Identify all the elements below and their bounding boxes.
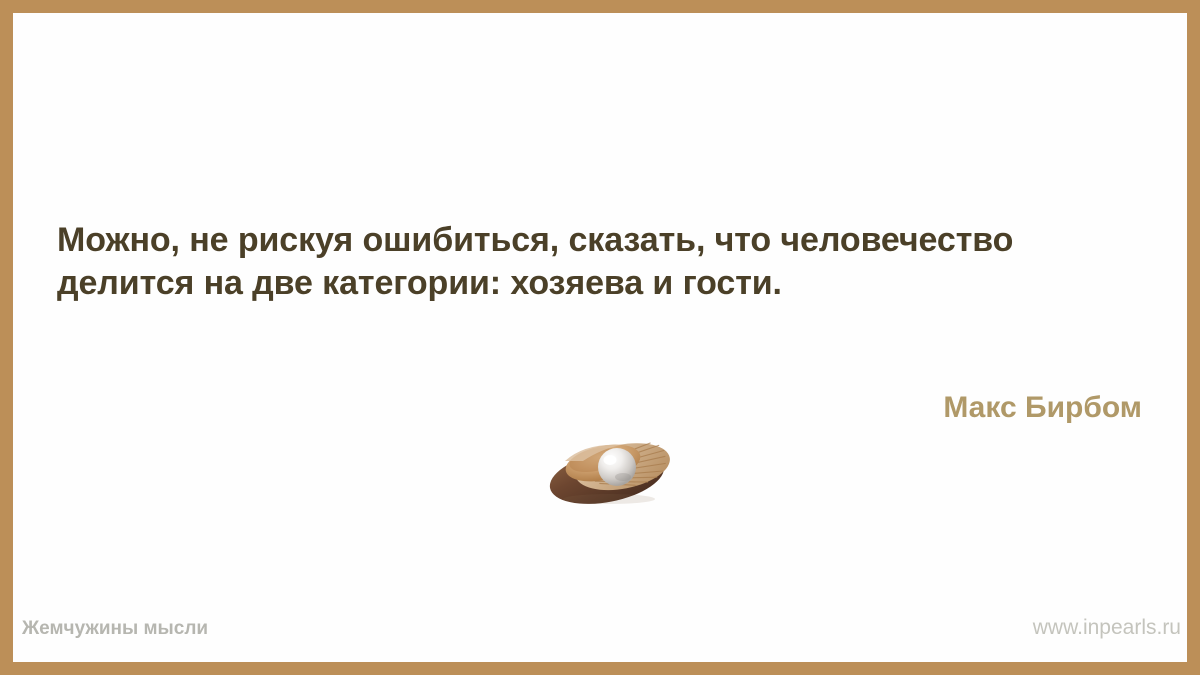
site-url[interactable]: www.inpearls.ru [1033, 616, 1181, 640]
quote-text: Можно, не рискуя ошибиться, сказать, что… [57, 219, 1155, 305]
seashell-with-pearl-icon [543, 429, 679, 505]
quote-author: Макс Бирбом [943, 390, 1142, 426]
quote-card: Можно, не рискуя ошибиться, сказать, что… [0, 0, 1200, 675]
site-name: Жемчужины мысли [22, 618, 208, 640]
